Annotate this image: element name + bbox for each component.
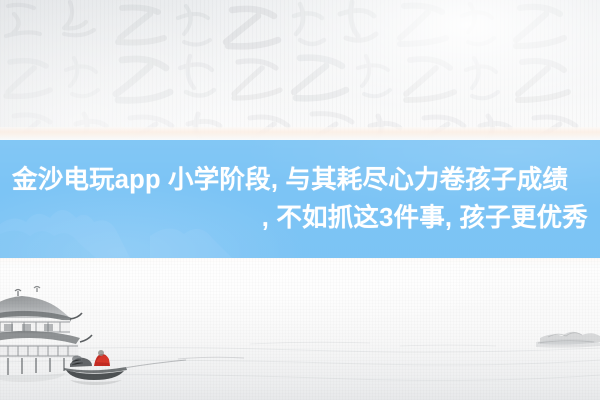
title-banner: 金沙电玩app 小学阶段, 与其耗尽心力卷孩子成绩 , 不如抓这3件事, 孩子更… (0, 140, 600, 258)
pavilion-windows (4, 324, 53, 331)
landscape-scene (0, 258, 600, 400)
article-title-line-1: 金沙电玩app 小学阶段, 与其耗尽心力卷孩子成绩 (12, 162, 588, 198)
ink-wash-landscape (0, 258, 600, 400)
article-title-line-2: , 不如抓这3件事, 孩子更优秀 (262, 200, 588, 236)
paper-light-vignette (0, 0, 600, 140)
water-wash (0, 316, 600, 400)
figure-hat (98, 350, 104, 356)
calligraphy-texture-band (0, 0, 600, 140)
pavilion-roof-finials (15, 287, 40, 297)
article-title: 金沙电玩app 小学阶段, 与其耗尽心力卷孩子成绩 , 不如抓这3件事, 孩子更… (12, 140, 588, 258)
article-cover-card: 金沙电玩app 小学阶段, 与其耗尽心力卷孩子成绩 , 不如抓这3件事, 孩子更… (0, 0, 600, 400)
cream-divider-seam (0, 127, 600, 140)
